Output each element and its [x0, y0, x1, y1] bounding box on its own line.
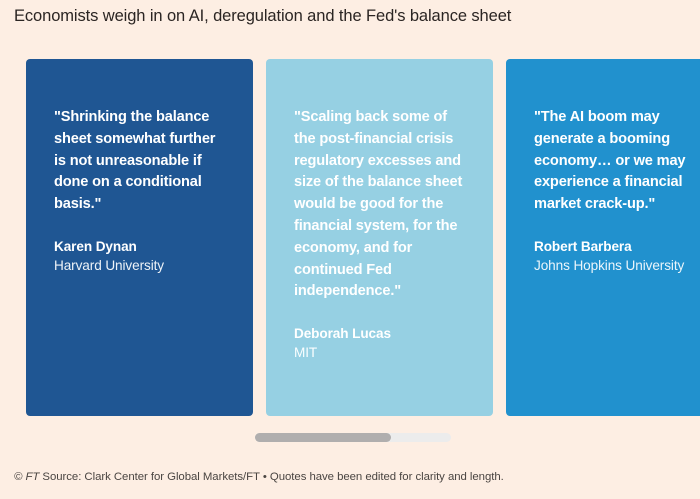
- attribution-organization: MIT: [294, 343, 471, 362]
- attribution-organization: Harvard University: [54, 256, 231, 275]
- quote-text: "Shrinking the balance sheet somewhat fu…: [54, 107, 231, 216]
- attribution-name: Robert Barbera: [534, 237, 700, 256]
- quote-attribution: Karen Dynan Harvard University: [54, 237, 231, 275]
- carousel-scrollbar-thumb[interactable]: [255, 433, 391, 442]
- attribution-name: Deborah Lucas: [294, 324, 471, 343]
- attribution-organization: Johns Hopkins University: [534, 256, 700, 275]
- ft-copyright-mark: © FT: [14, 471, 39, 483]
- page-title: Economists weigh in on AI, deregulation …: [14, 2, 684, 30]
- quote-attribution: Robert Barbera Johns Hopkins University: [534, 237, 700, 275]
- carousel-track[interactable]: "Shrinking the balance sheet somewhat fu…: [26, 59, 700, 416]
- quote-card[interactable]: "Scaling back some of the post-financial…: [266, 59, 493, 416]
- footer-source-text: Source: Clark Center for Global Markets/…: [42, 471, 503, 483]
- quote-card[interactable]: "Shrinking the balance sheet somewhat fu…: [26, 59, 253, 416]
- footer-credit: © FT Source: Clark Center for Global Mar…: [14, 469, 504, 485]
- quote-text: "Scaling back some of the post-financial…: [294, 107, 471, 303]
- attribution-name: Karen Dynan: [54, 237, 231, 256]
- infographic-page: Economists weigh in on AI, deregulation …: [0, 0, 700, 499]
- carousel-scrollbar-track[interactable]: [255, 433, 451, 442]
- quote-text: "The AI boom may generate a booming econ…: [534, 107, 700, 216]
- quote-card[interactable]: "The AI boom may generate a booming econ…: [506, 59, 700, 416]
- quote-carousel[interactable]: "Shrinking the balance sheet somewhat fu…: [0, 59, 700, 416]
- quote-attribution: Deborah Lucas MIT: [294, 324, 471, 362]
